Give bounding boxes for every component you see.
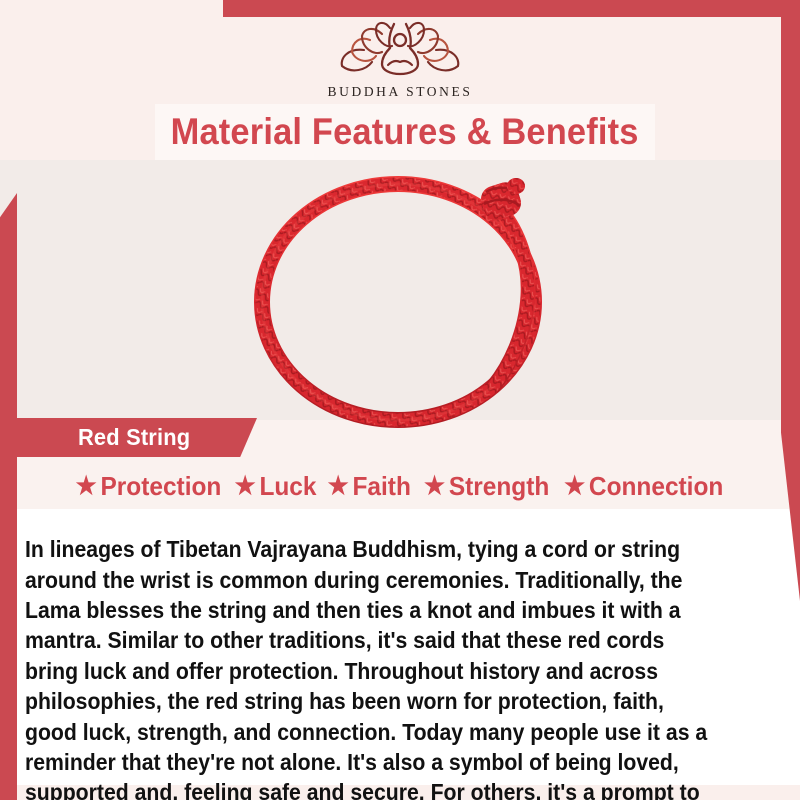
product-image-red-string-bracelet: [230, 168, 590, 433]
section-banner-label: Red String: [78, 424, 190, 451]
brand-name: BUDDHA STONES: [0, 84, 800, 100]
feature-label: Protection: [101, 471, 222, 502]
description-paragraph: In lineages of Tibetan Vajrayana Buddhis…: [25, 534, 713, 800]
star-icon: ★: [328, 474, 349, 499]
brand-logo: BUDDHA STONES: [0, 18, 800, 100]
poster: BUDDHA STONES Material Features & Benefi…: [0, 0, 800, 800]
feature-item-connection: ★ Connection: [564, 471, 723, 502]
lotus-meditation-figure-icon: [334, 18, 466, 82]
feature-label: Luck: [260, 471, 317, 502]
star-icon: ★: [235, 474, 256, 499]
star-icon: ★: [424, 474, 445, 499]
page-title: Material Features & Benefits: [171, 111, 639, 153]
star-icon: ★: [564, 474, 585, 499]
decor-red-top-bar: [223, 0, 800, 17]
feature-item-protection: ★ Protection: [76, 471, 222, 502]
feature-item-strength: ★ Strength: [424, 471, 549, 502]
decor-red-left-bar: [0, 193, 17, 800]
feature-label: Faith: [353, 471, 411, 502]
feature-item-faith: ★ Faith: [328, 471, 411, 502]
page-title-band: Material Features & Benefits: [155, 104, 655, 160]
section-banner: Red String: [17, 418, 257, 457]
feature-list: ★ Protection ★ Luck ★ Faith ★ Strength ★…: [18, 466, 782, 506]
feature-label: Strength: [449, 471, 549, 502]
feature-item-luck: ★ Luck: [235, 471, 317, 502]
braided-cord-illustration: [230, 168, 590, 433]
star-icon: ★: [76, 474, 97, 499]
feature-label: Connection: [589, 471, 723, 502]
